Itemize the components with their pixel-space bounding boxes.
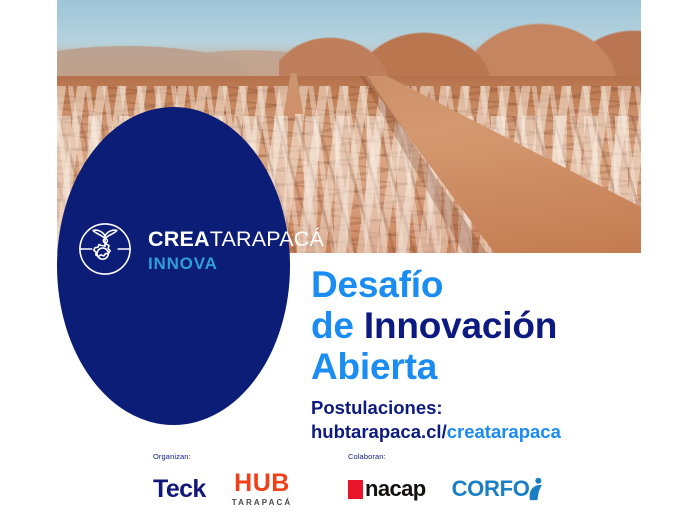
headline-block: Desafío de Innovación Abierta [311, 264, 671, 387]
hub-logo-subtext: TARAPACÁ [232, 499, 293, 507]
brand-innova-text: INNOVA [148, 255, 324, 272]
corfo-logo-text: CORFO [452, 478, 530, 500]
headline-de: de [311, 305, 364, 346]
brand-tarapaca-text: TARAPACÁ [210, 227, 324, 251]
headline-innovacion: Innovación [364, 305, 557, 346]
headline-desafio: Desafío [311, 264, 443, 305]
brand-lockup: CREATARAPACÁ INNOVA [72, 213, 297, 285]
inacap-logo-text: nacap [365, 478, 426, 500]
inacap-logo: nacap [348, 478, 426, 500]
inacap-square-mark-icon [348, 480, 363, 499]
organizers-label: Organizan: [153, 452, 292, 461]
sponsor-footer: Organizan: Teck HUB TARAPACÁ Colaboran: … [0, 452, 697, 516]
poster-canvas: CREATARAPACÁ INNOVA Desafío de Innovació… [0, 0, 697, 516]
organizers-logo-row: Teck HUB TARAPACÁ [153, 470, 292, 508]
collaborators-group: Colaboran: nacap CORFO [348, 452, 546, 508]
headline-line-2: de Innovación [311, 305, 671, 346]
cta-url-slug: creatarapaca [447, 421, 561, 442]
brand-primary-line: CREATARAPACÁ [148, 229, 324, 251]
call-to-action-block: Postulaciones: hubtarapaca.cl/creatarapa… [311, 396, 671, 444]
headline-abierta: Abierta [311, 346, 437, 387]
brand-crea-text: CREA [148, 227, 210, 251]
headline-line-3: Abierta [311, 346, 671, 387]
cta-url-base: hubtarapaca.cl/ [311, 421, 447, 442]
hub-logo-text: HUB [234, 471, 290, 496]
corfo-logo: CORFO [452, 477, 546, 501]
collaborators-logo-row: nacap CORFO [348, 470, 546, 508]
cta-url[interactable]: hubtarapaca.cl/creatarapaca [311, 420, 671, 444]
teck-logo: Teck [153, 477, 206, 502]
gear-sprout-globe-icon [72, 216, 138, 282]
corfo-figure-swoosh-icon [527, 477, 546, 501]
cta-label: Postulaciones: [311, 396, 671, 420]
organizers-group: Organizan: Teck HUB TARAPACÁ [153, 452, 292, 508]
headline-line-1: Desafío [311, 264, 671, 305]
collaborators-label: Colaboran: [348, 452, 546, 461]
hub-tarapaca-logo: HUB TARAPACÁ [232, 471, 293, 507]
brand-wordmark: CREATARAPACÁ INNOVA [148, 226, 324, 273]
